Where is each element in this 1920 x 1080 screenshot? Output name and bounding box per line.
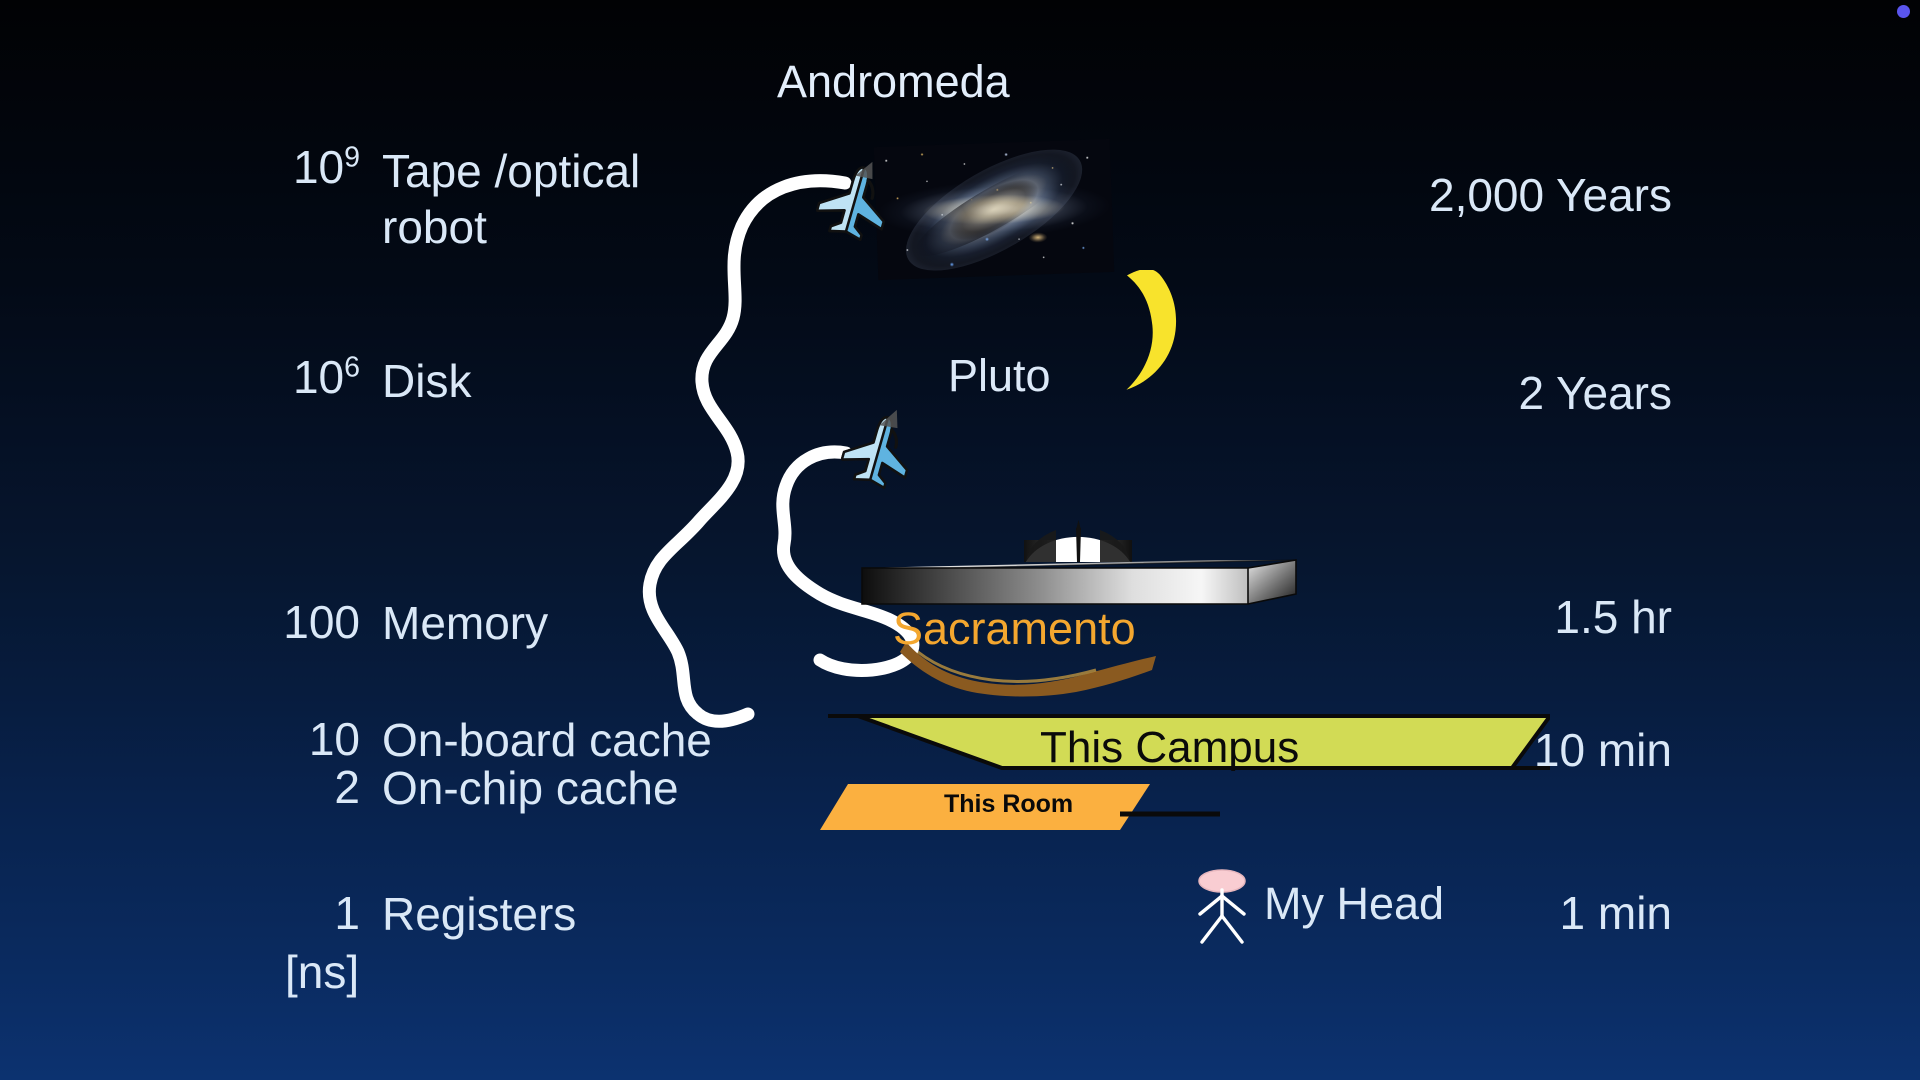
latency-value-registers: 1 [334,886,360,940]
time-value-tape: 2,000 Years [1429,168,1672,222]
level-name-memory: Memory [382,595,548,651]
time-value-registers: 1 min [1560,886,1672,940]
time-value-disk: 2 Years [1519,366,1672,420]
blue-dot-icon [1897,5,1910,18]
this-campus-label: This Campus [1040,723,1299,773]
galaxy-photo [874,139,1114,280]
level-name-registers: Registers [382,886,576,942]
units-label: [ns] [285,948,359,998]
time-value-memory: 1.5 hr [1554,590,1672,644]
pluto-label: Pluto [948,352,1051,401]
latency-value-disk: 106 [293,350,360,404]
slide-canvas: Andromeda Pluto [0,0,1920,1080]
capitol-building-icon [860,520,1300,610]
level-name-disk: Disk [382,353,471,409]
this-room-label: This Room [944,790,1073,819]
latency-value-onboard: 10 [309,712,360,766]
latency-value-memory: 100 [283,595,360,649]
stick-figure-icon [1192,868,1252,948]
level-name-tape: Tape /optical robot [382,143,640,255]
crescent-moon-icon [1078,270,1203,395]
time-value-onboard: 10 min [1534,723,1672,777]
andromeda-title: Andromeda [777,58,1010,107]
level-name-onchip: On-chip cache [382,760,679,816]
sacramento-label: Sacramento [893,603,1136,655]
latency-value-tape: 109 [293,140,360,194]
my-head-label: My Head [1264,880,1444,929]
latency-value-onchip: 2 [334,760,360,814]
